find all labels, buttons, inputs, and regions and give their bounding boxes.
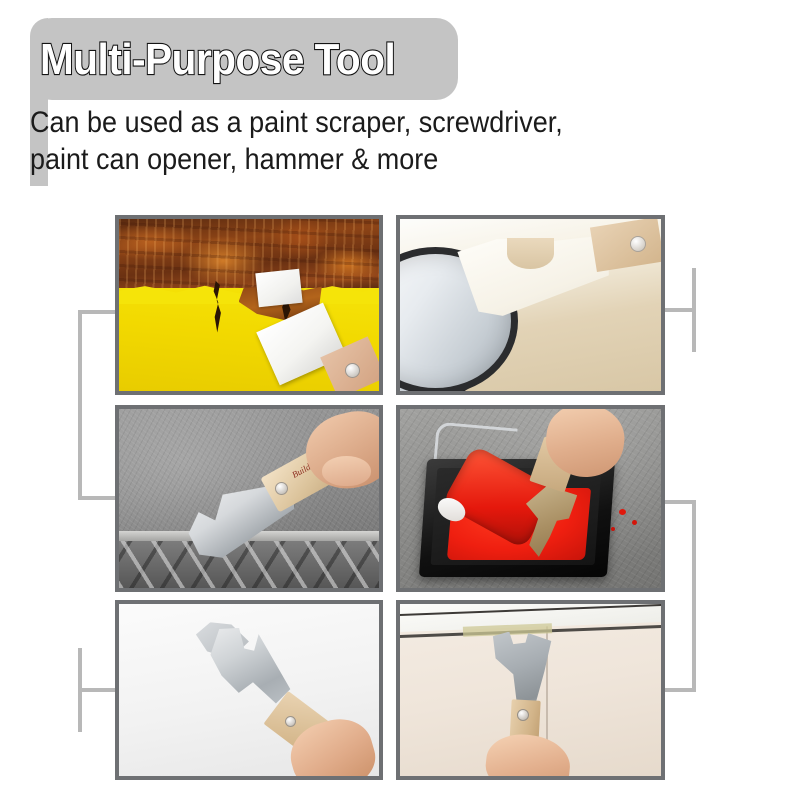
connector-left-bracket-top-arm <box>78 310 118 314</box>
photo-tile-wall-scrape-content <box>400 604 661 776</box>
photo-tile-wall-scrape[interactable] <box>396 600 665 780</box>
photo-white-wall-scrape[interactable] <box>115 600 383 780</box>
photo-concrete-scraping[interactable]: Builder <box>115 405 383 592</box>
photo-roller-cleaner-content <box>400 409 661 588</box>
photo-scraping-rust-content <box>119 219 379 391</box>
rusted-metal-region <box>119 219 379 295</box>
diamond-plate-floor <box>119 540 379 588</box>
connector-right-stub-arm <box>662 308 696 312</box>
connector-left-bracket-vertical <box>78 310 82 500</box>
infographic-page: Multi-Purpose Tool Can be used as a pain… <box>0 0 800 800</box>
thumb <box>322 456 371 486</box>
connector-right-bracket-top-arm <box>662 500 696 504</box>
photo-paint-can-opener[interactable] <box>396 215 665 395</box>
handle-rivet-icon <box>630 236 646 252</box>
connector-left-stub-arm <box>78 688 118 692</box>
connector-right-bracket-bottom-arm <box>662 688 696 692</box>
scraper-blade-upper <box>255 268 303 307</box>
photo-concrete-scraping-content: Builder <box>119 409 379 588</box>
opener-blade-notch <box>507 238 554 269</box>
photo-white-wall-scrape-content <box>119 604 379 776</box>
photo-scraping-rust[interactable] <box>115 215 383 395</box>
connector-left-bracket-bottom-arm <box>78 496 118 500</box>
photo-roller-cleaner[interactable] <box>396 405 665 592</box>
subtitle-text: Can be used as a paint scraper, screwdri… <box>30 104 660 178</box>
connector-right-bracket-vertical <box>692 500 696 692</box>
photo-paint-can-opener-content <box>400 219 661 391</box>
page-title: Multi-Purpose Tool <box>40 28 426 92</box>
